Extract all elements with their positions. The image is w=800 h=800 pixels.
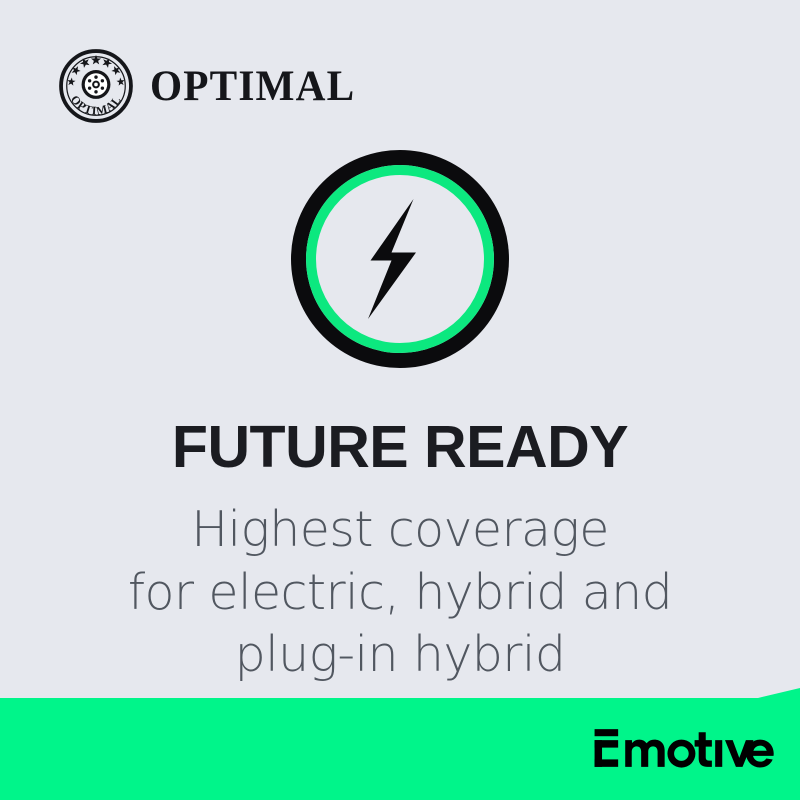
optimal-wheel-hub-emblem-icon: OPTIMAL bbox=[58, 48, 134, 124]
emotive-wordmark-icon bbox=[593, 726, 774, 770]
lightning-bolt-in-circle-icon bbox=[291, 150, 509, 368]
emotive-logo bbox=[593, 726, 774, 770]
promo-card: OPTIMAL OPTIMAL bbox=[0, 0, 800, 800]
hero-icon-container bbox=[291, 150, 509, 368]
bolt-glyph bbox=[368, 199, 416, 319]
page-title: FUTURE READY bbox=[0, 417, 800, 477]
footer-band bbox=[0, 688, 800, 800]
page-subtitle: Highest coverage for electric, hybrid an… bbox=[0, 499, 800, 687]
brand-header: OPTIMAL OPTIMAL bbox=[58, 48, 364, 124]
brand-wordmark: OPTIMAL bbox=[150, 65, 355, 108]
